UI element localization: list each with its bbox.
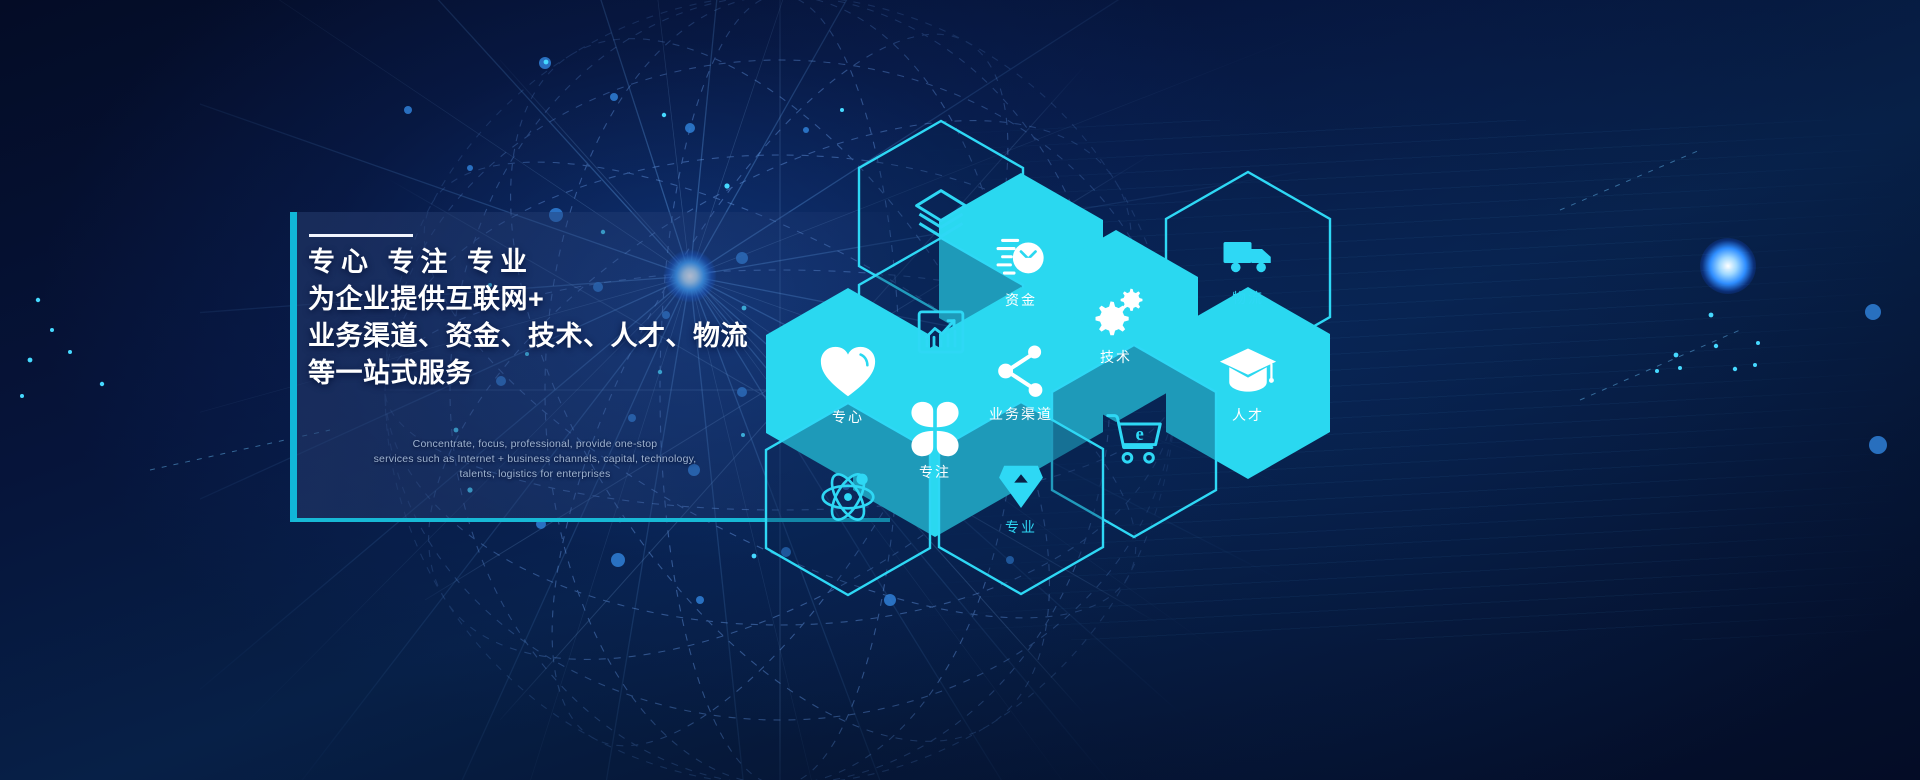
- hexagon-label: 专业: [1005, 520, 1037, 534]
- hexagon-content: 物流: [1220, 228, 1276, 305]
- hero-banner: 专心 专注 专业 为企业提供互联网+ 业务渠道、资金、技术、人才、物流 等一站式…: [0, 0, 1920, 780]
- shopping-cart-e-icon: e: [1104, 409, 1164, 469]
- hexagon-content: 专注: [906, 400, 964, 479]
- hexagon-content: e: [1104, 409, 1164, 469]
- clover-icon: [906, 400, 964, 458]
- hexagon-content: 业务渠道: [989, 342, 1053, 421]
- diamond-icon: [994, 459, 1048, 513]
- money-yen-icon: [992, 228, 1050, 286]
- svg-text:e: e: [1135, 424, 1143, 445]
- layers-icon: [911, 185, 971, 245]
- hexagon-label: 技术: [1100, 350, 1132, 364]
- hexagon-content: 专心: [817, 341, 879, 424]
- graduation-cap-icon: [1218, 341, 1278, 401]
- gears-icon: [1087, 285, 1145, 343]
- truck-icon: [1220, 228, 1276, 284]
- hexagon-grid: 资金 物流 技术 专心 业务渠道 人才: [0, 0, 1920, 780]
- hexagon-content: [911, 185, 971, 245]
- hexagon-content: 人才: [1218, 341, 1278, 422]
- hexagon-label: 资金: [1005, 293, 1037, 307]
- hexagon-content: 资金: [992, 228, 1050, 307]
- bar-chart-icon: [913, 304, 969, 360]
- atom-icon: [818, 467, 878, 527]
- hexagon-content: 专业: [994, 459, 1048, 534]
- hexagon-label: 业务渠道: [989, 407, 1053, 421]
- hexagon-content: [913, 304, 969, 360]
- hexagon-label: 专心: [832, 410, 864, 424]
- heart-icon: [817, 341, 879, 403]
- hexagon-content: 技术: [1087, 285, 1145, 364]
- hexagon-label: 专注: [919, 465, 951, 479]
- hexagon-label: 物流: [1232, 291, 1264, 305]
- hexagon-content: [818, 467, 878, 527]
- hexagon-label: 人才: [1232, 408, 1264, 422]
- share-node-icon: [992, 342, 1050, 400]
